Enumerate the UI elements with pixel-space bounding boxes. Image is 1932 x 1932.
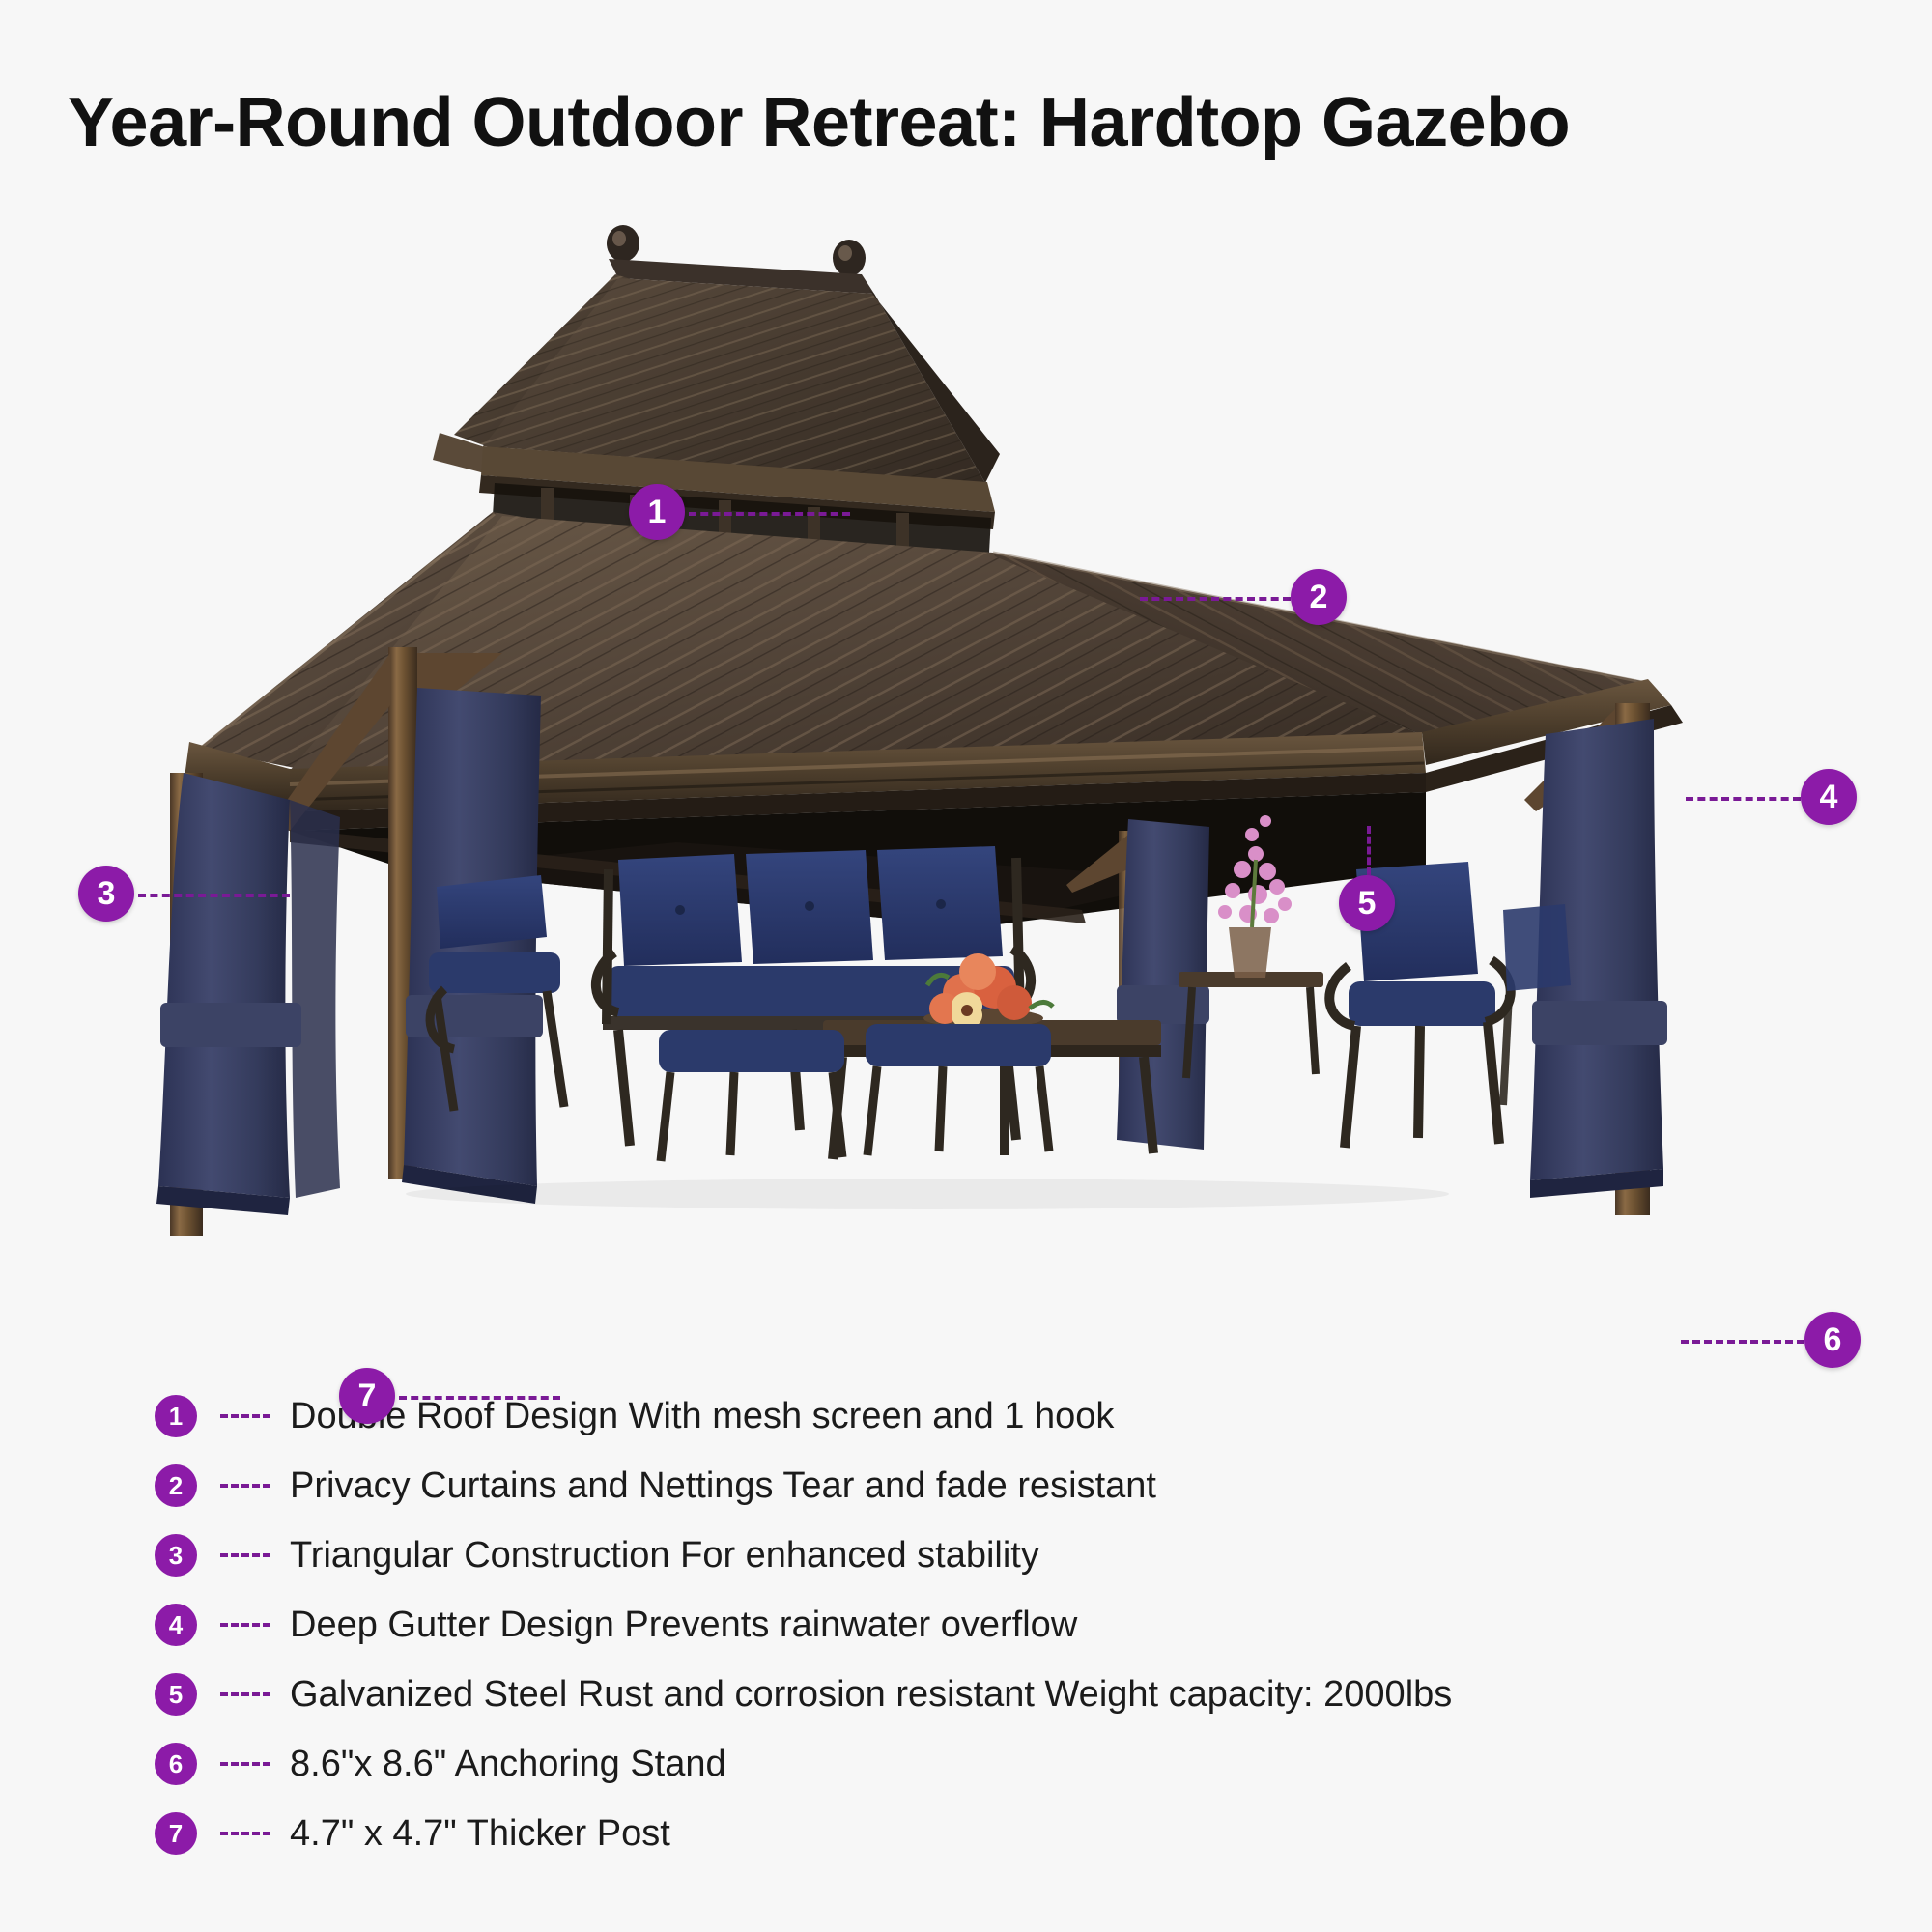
leader-line-5 xyxy=(1367,826,1371,875)
callout-marker-2[interactable]: 2 xyxy=(1291,569,1347,625)
legend-badge-5: 5 xyxy=(155,1673,197,1716)
ottoman-left xyxy=(659,1030,844,1161)
gazebo-illustration xyxy=(0,193,1932,1314)
callout-marker-1[interactable]: 1 xyxy=(629,484,685,540)
gazebo-product-image: 1 2 3 4 5 6 7 xyxy=(0,193,1932,1314)
callout-marker-6[interactable]: 6 xyxy=(1804,1312,1861,1368)
leader-line-4 xyxy=(1686,797,1801,801)
legend-text-3: Triangular Construction For enhanced sta… xyxy=(290,1535,1039,1577)
callout-marker-7[interactable]: 7 xyxy=(339,1368,395,1424)
leader-line-6 xyxy=(1681,1340,1804,1344)
legend-item-3: 3 Triangular Construction For enhanced s… xyxy=(155,1520,1855,1590)
legend-badge-2: 2 xyxy=(155,1464,197,1507)
curtain-tieback-left xyxy=(160,1003,301,1047)
legend-dash-1 xyxy=(220,1414,270,1418)
callout-marker-3[interactable]: 3 xyxy=(78,866,134,922)
callout-marker-4[interactable]: 4 xyxy=(1801,769,1857,825)
legend-item-2: 2 Privacy Curtains and Nettings Tear and… xyxy=(155,1451,1855,1520)
legend-item-7: 7 4.7" x 4.7" Thicker Post xyxy=(155,1799,1855,1868)
feature-legend: 1 Double Roof Design With mesh screen an… xyxy=(155,1381,1855,1868)
callout-marker-5[interactable]: 5 xyxy=(1339,875,1395,931)
legend-text-2: Privacy Curtains and Nettings Tear and f… xyxy=(290,1465,1156,1507)
legend-badge-4: 4 xyxy=(155,1604,197,1646)
legend-dash-6 xyxy=(220,1762,270,1766)
legend-dash-5 xyxy=(220,1692,270,1696)
legend-item-4: 4 Deep Gutter Design Prevents rainwater … xyxy=(155,1590,1855,1660)
legend-dash-7 xyxy=(220,1832,270,1835)
page-title: Year-Round Outdoor Retreat: Hardtop Gaze… xyxy=(68,83,1570,162)
legend-text-4: Deep Gutter Design Prevents rainwater ov… xyxy=(290,1605,1077,1646)
legend-badge-1: 1 xyxy=(155,1395,197,1437)
legend-item-6: 6 8.6"x 8.6" Anchoring Stand xyxy=(155,1729,1855,1799)
legend-text-6: 8.6"x 8.6" Anchoring Stand xyxy=(290,1744,726,1785)
leader-line-2 xyxy=(1140,597,1291,601)
legend-badge-7: 7 xyxy=(155,1812,197,1855)
legend-text-5: Galvanized Steel Rust and corrosion resi… xyxy=(290,1674,1452,1716)
legend-dash-3 xyxy=(220,1553,270,1557)
legend-dash-4 xyxy=(220,1623,270,1627)
leader-line-3 xyxy=(138,894,290,897)
legend-badge-6: 6 xyxy=(155,1743,197,1785)
leader-line-1 xyxy=(689,512,850,516)
legend-text-7: 4.7" x 4.7" Thicker Post xyxy=(290,1813,670,1855)
legend-dash-2 xyxy=(220,1484,270,1488)
legend-badge-3: 3 xyxy=(155,1534,197,1577)
ottoman-right xyxy=(866,1024,1051,1155)
legend-item-1: 1 Double Roof Design With mesh screen an… xyxy=(155,1381,1855,1451)
upper-roof xyxy=(433,225,1000,555)
leader-line-7 xyxy=(399,1396,560,1400)
curtain-front-left xyxy=(158,773,290,1198)
legend-item-5: 5 Galvanized Steel Rust and corrosion re… xyxy=(155,1660,1855,1729)
curtain-tieback-right xyxy=(1532,1001,1667,1045)
infographic-page: Year-Round Outdoor Retreat: Hardtop Gaze… xyxy=(0,0,1932,1932)
legend-text-1: Double Roof Design With mesh screen and … xyxy=(290,1396,1114,1437)
